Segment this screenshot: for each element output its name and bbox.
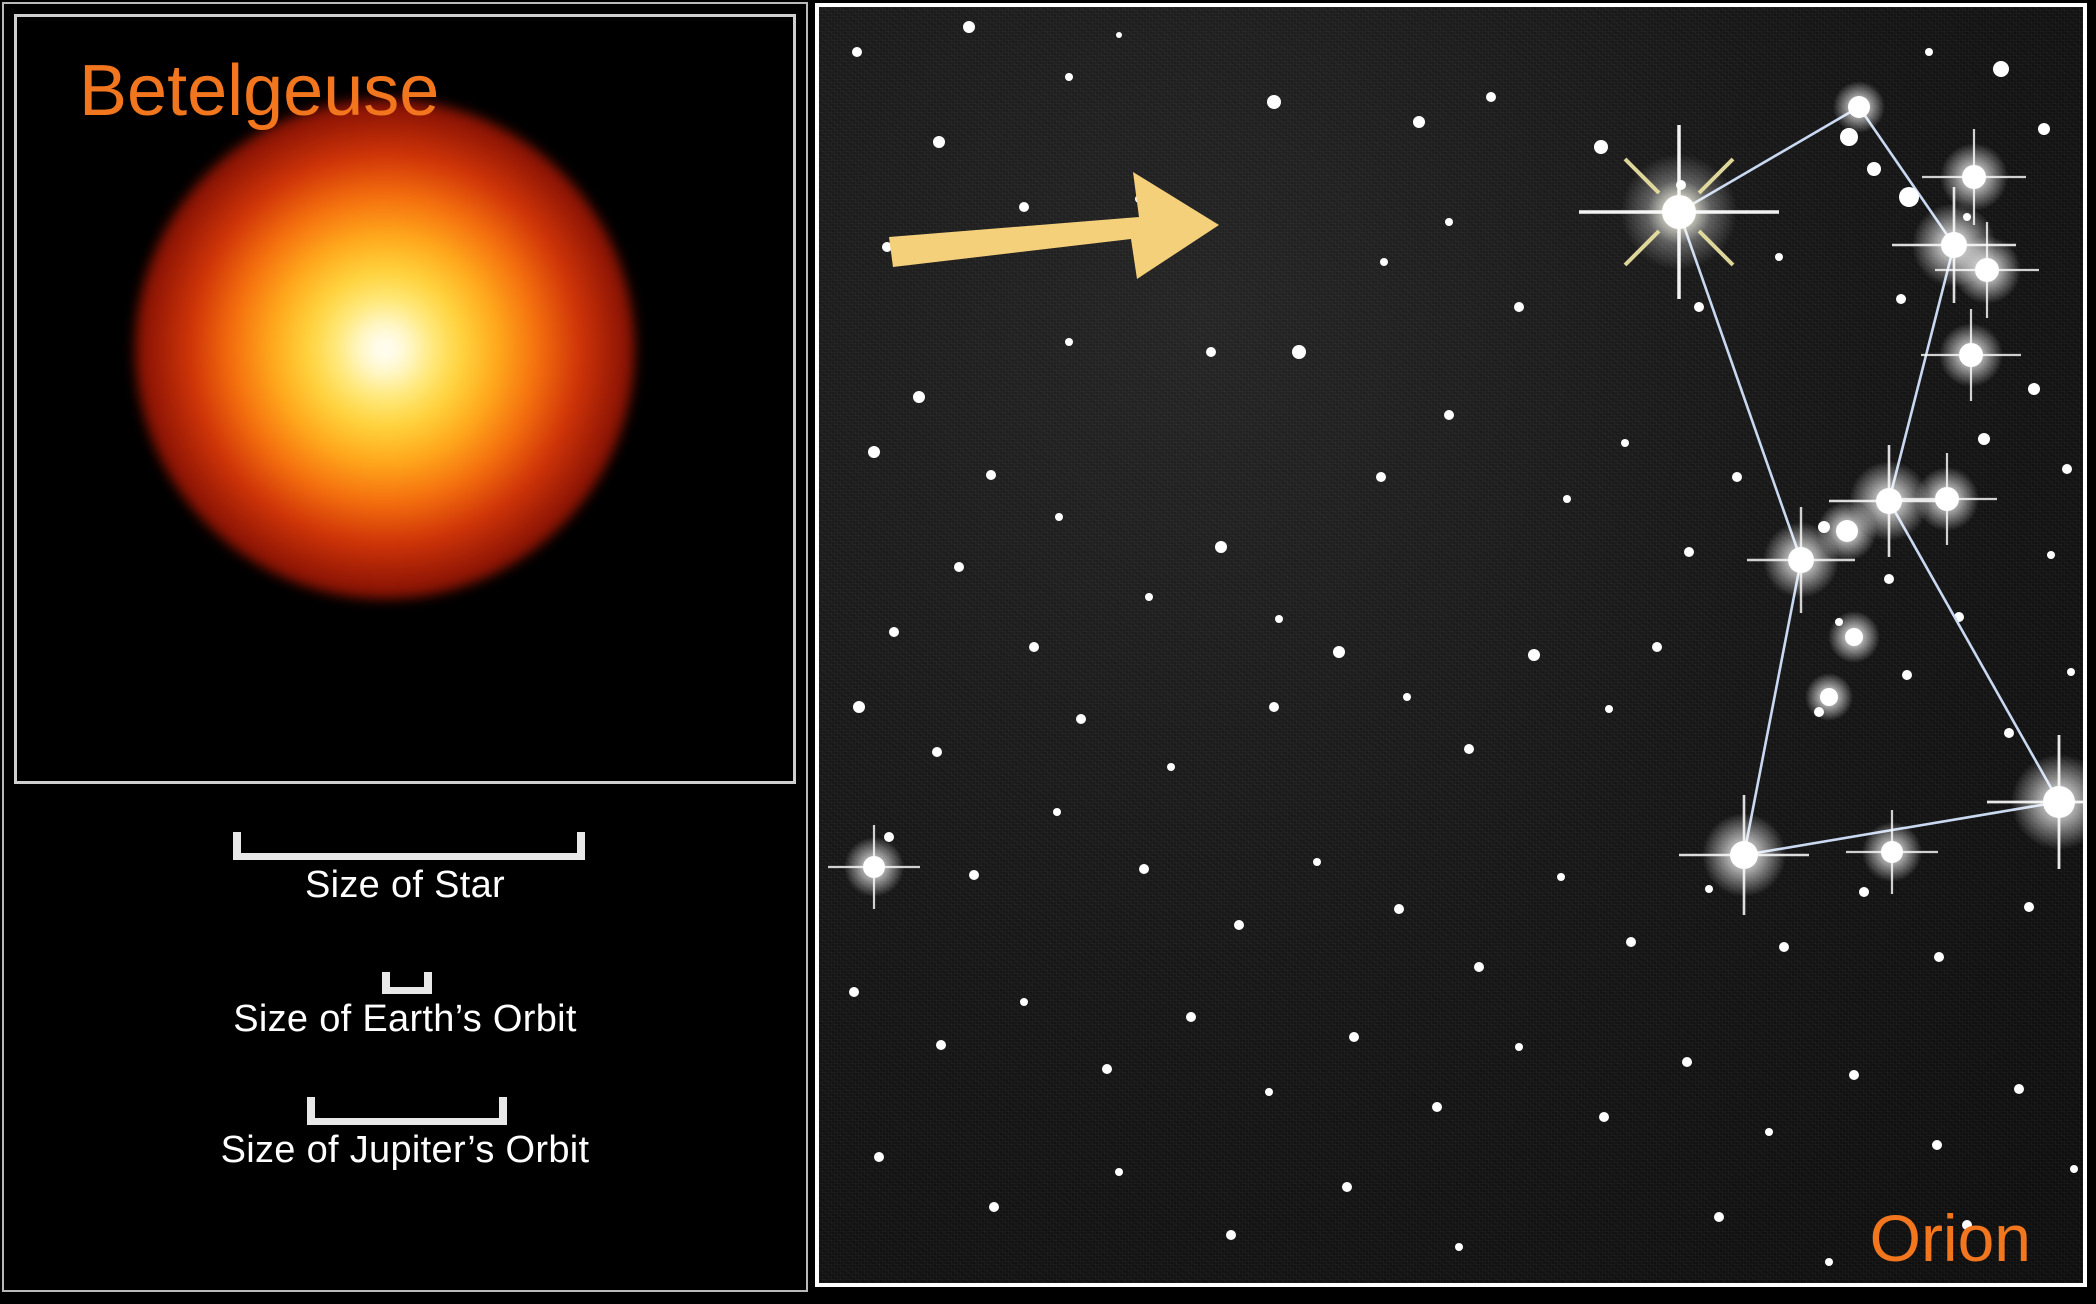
orion-constellation-photo: Orion: [815, 3, 2087, 1287]
constellation-stars: [828, 81, 2083, 915]
star-sword-upper: [1828, 611, 1880, 663]
scale-bar-size-of-star: [4, 826, 806, 860]
scale-label-size-of-star: Size of Star: [4, 860, 806, 908]
betelgeuse-panel: Betelgeuse Size of Star Size of Ea: [2, 2, 808, 1292]
star-field-svg: [819, 7, 2083, 1283]
scale-label-size-of-earths-orbit: Size of Earth’s Orbit: [4, 994, 806, 1042]
scale-cap-right: [499, 1097, 507, 1125]
star-meissa: [1833, 81, 1885, 146]
orion-label: Orion: [1870, 1205, 2031, 1271]
star-disk-gradient: [135, 99, 635, 599]
scale-comparison-group: Size of Star Size of Earth’s Orbit Siz: [4, 794, 806, 1173]
star-rigel: [1987, 735, 2083, 869]
scale-size-of-star: Size of Star: [4, 826, 806, 908]
scale-label-size-of-jupiters-orbit: Size of Jupiter’s Orbit: [4, 1125, 806, 1173]
star-mid-right: [1846, 810, 1938, 894]
scale-cap-right: [424, 972, 432, 994]
scale-bar-size-of-earths-orbit: [4, 960, 806, 994]
astronomy-slide: Betelgeuse Size of Star Size of Ea: [0, 0, 2096, 1304]
scale-size-of-jupiters-orbit: Size of Jupiter’s Orbit: [4, 1091, 806, 1173]
field-stars: [849, 21, 2078, 1266]
star-sword-lower: [1805, 673, 1853, 721]
night-sky-background: Orion: [819, 7, 2083, 1283]
pointer-arrow-icon: [889, 172, 1219, 279]
betelgeuse-title: Betelgeuse: [79, 55, 439, 127]
scale-size-of-earths-orbit: Size of Earth’s Orbit: [4, 960, 806, 1042]
betelgeuse-star-image: Betelgeuse: [14, 14, 796, 784]
scale-cap-right: [577, 832, 585, 860]
scale-bar-size-of-jupiters-orbit: [4, 1091, 806, 1125]
star-lower-left-bright: [828, 825, 920, 909]
scale-bar-line: [233, 853, 585, 860]
star-betelgeuse: [1579, 125, 1779, 299]
star-saiph: [1679, 795, 1809, 915]
scale-bar-line: [307, 1118, 507, 1125]
